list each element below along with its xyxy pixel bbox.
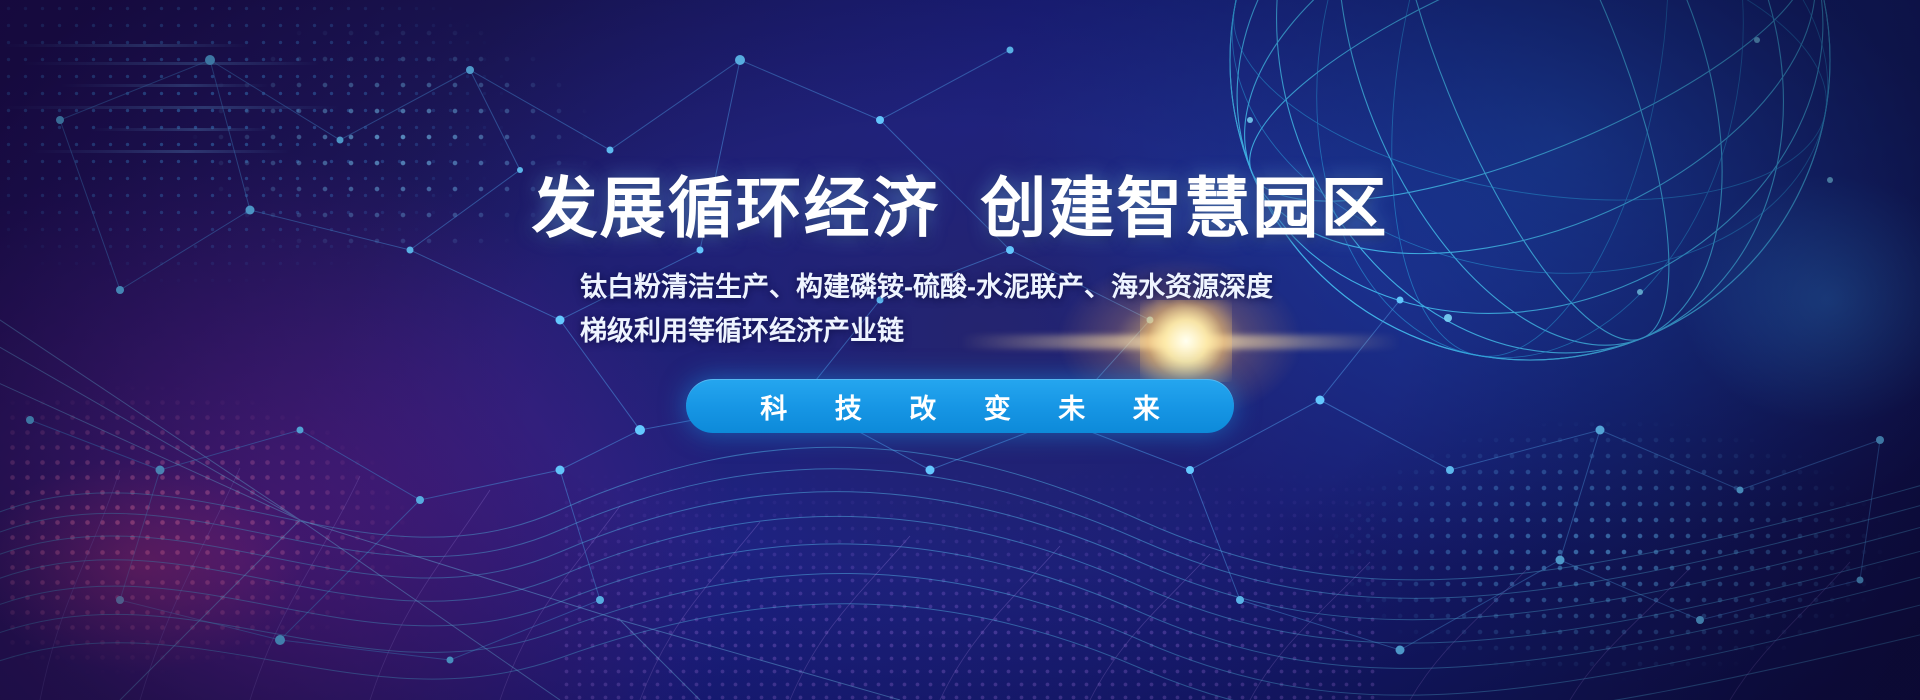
cta-button[interactable]: 科 技 改 变 未 来 [686,379,1234,433]
banner-headline: 发展循环经济 创建智慧园区 [532,172,1389,246]
banner-content: 发展循环经济 创建智慧园区 钛白粉清洁生产、构建磷铵-硫酸-水泥联产、海水资源深… [0,0,1920,700]
banner-subtitle-line-1: 钛白粉清洁生产、构建磷铵-硫酸-水泥联产、海水资源深度 [580,266,1340,310]
hero-banner: 发展循环经济 创建智慧园区 钛白粉清洁生产、构建磷铵-硫酸-水泥联产、海水资源深… [0,0,1920,700]
banner-subtitle: 钛白粉清洁生产、构建磷铵-硫酸-水泥联产、海水资源深度 梯级利用等循环经济产业链 [580,266,1340,353]
banner-subtitle-line-2: 梯级利用等循环经济产业链 [580,310,1340,354]
